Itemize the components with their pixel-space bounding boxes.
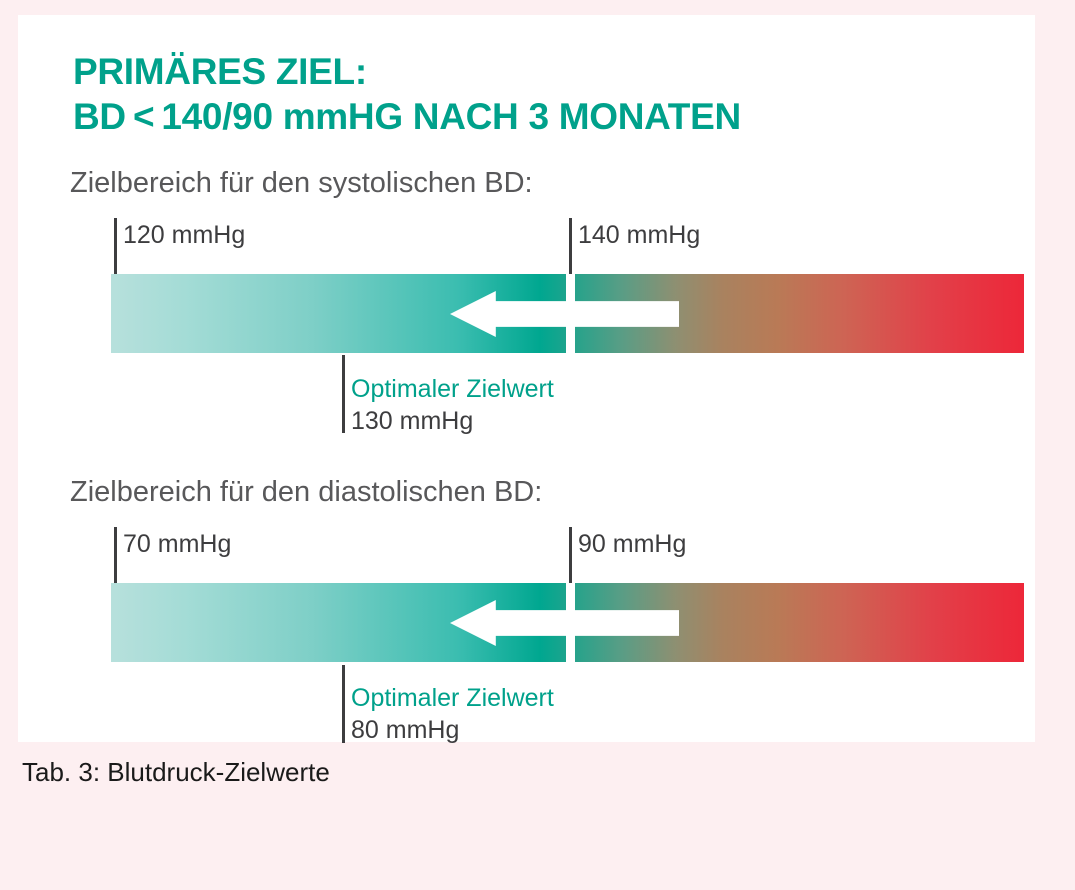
tick-mark-systolic-low: [114, 218, 117, 274]
tick-label-diastolic-high: 90 mmHg: [578, 530, 686, 559]
figure-card: PRIMÄRES ZIEL: BD < 140/90 mmHG NACH 3 M…: [18, 15, 1035, 742]
figure-title-line-1: PRIMÄRES ZIEL:: [73, 51, 367, 92]
tick-mark-diastolic-optimal: [342, 665, 345, 743]
optimal-target-value-systolic: 130 mmHg: [351, 405, 554, 437]
optimal-target-value-diastolic: 80 mmHg: [351, 714, 554, 746]
figure-caption: Tab. 3: Blutdruck-Zielwerte: [22, 757, 330, 788]
tick-mark-systolic-optimal: [342, 355, 345, 433]
tick-mark-diastolic-high: [569, 527, 572, 583]
figure-title-line-2: BD < 140/90 mmHG NACH 3 MONATEN: [73, 94, 741, 139]
figure-page: PRIMÄRES ZIEL: BD < 140/90 mmHG NACH 3 M…: [0, 0, 1075, 890]
tick-label-systolic-high: 140 mmHg: [578, 221, 700, 250]
optimal-target-label-diastolic: Optimaler Zielwert: [351, 682, 554, 714]
section-heading-systolic: Zielbereich für den systolischen BD:: [70, 167, 533, 200]
section-heading-diastolic: Zielbereich für den diastolischen BD:: [70, 476, 542, 509]
tick-label-systolic-low: 120 mmHg: [123, 221, 245, 250]
figure-title: PRIMÄRES ZIEL: BD < 140/90 mmHG NACH 3 M…: [73, 49, 741, 139]
optimal-target-systolic: Optimaler Zielwert 130 mmHg: [351, 373, 554, 437]
optimal-target-label-systolic: Optimaler Zielwert: [351, 373, 554, 405]
optimal-target-diastolic: Optimaler Zielwert 80 mmHg: [351, 682, 554, 746]
tick-label-diastolic-low: 70 mmHg: [123, 530, 231, 559]
tick-mark-diastolic-low: [114, 527, 117, 583]
tick-mark-systolic-high: [569, 218, 572, 274]
